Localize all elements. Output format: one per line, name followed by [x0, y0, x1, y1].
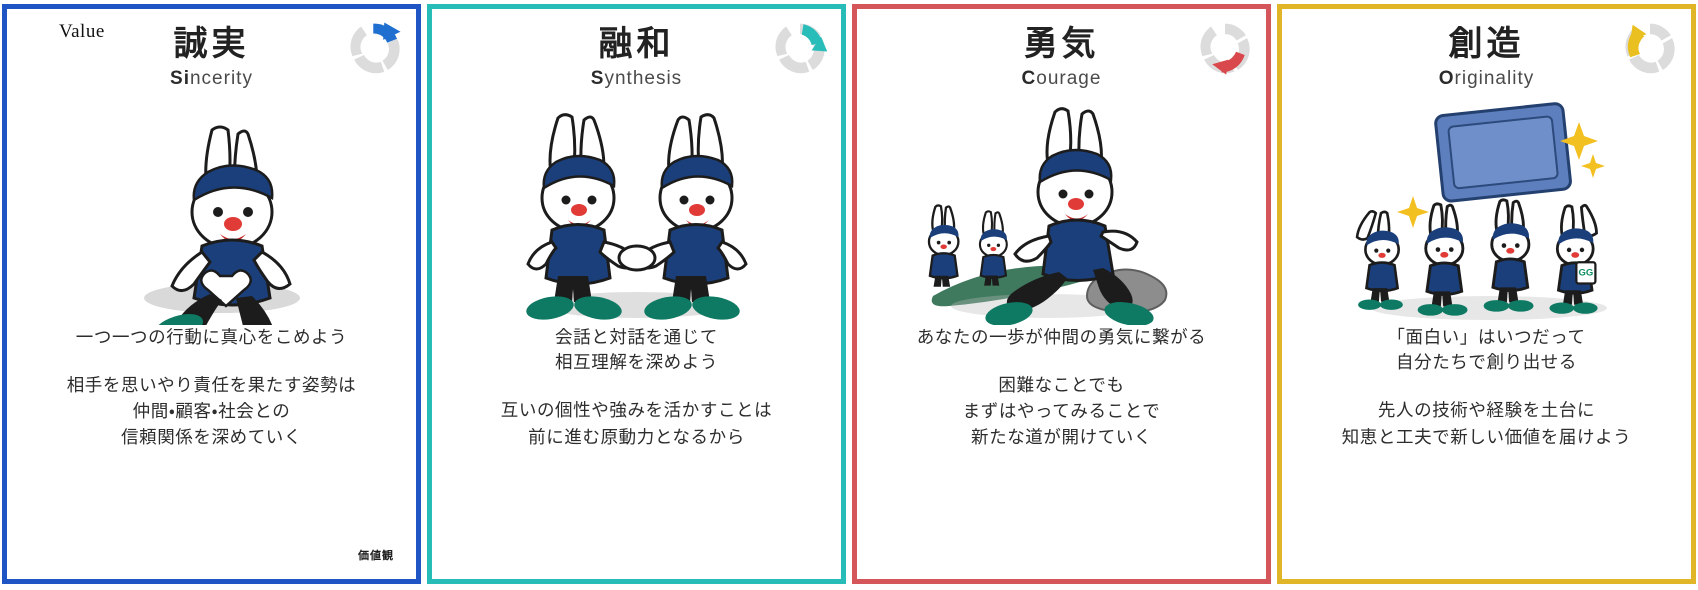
card-lead-text: 一つ一つの行動に真心をこめよう: [17, 325, 406, 350]
value-card-originality[interactable]: 創造 Originality: [1277, 4, 1696, 584]
card-footnote: 価値観: [358, 547, 394, 563]
card-sub-text: 困難なことでも まずはやってみることで 新たな道が開けていく: [867, 372, 1256, 451]
card-title-en-rest: ncerity: [190, 68, 253, 89]
card-sub-line: 相手を思いやり責任を果たす姿勢は: [17, 372, 406, 398]
card-sub-line: 困難なことでも: [867, 372, 1256, 398]
recycle-circle-icon: [346, 19, 404, 77]
card-title-en-cap: S: [591, 68, 605, 89]
svg-text:GG: GG: [1578, 267, 1593, 278]
mascot-leaping-over-rock-icon: [857, 90, 1266, 325]
recycle-circle-icon: [1196, 19, 1254, 77]
card-sub-line: 前に進む原動力となるから: [442, 424, 831, 450]
card-sub-text: 相手を思いやり責任を果たす姿勢は 仲間・顧客・社会との 信頼関係を深めていく: [17, 372, 406, 451]
value-kicker-label: Value: [59, 21, 105, 43]
card-sub-line: 互いの個性や強みを活かすことは: [442, 397, 831, 423]
card-lead-text: あなたの一歩が仲間の勇気に繋がる: [867, 325, 1256, 350]
card-sub-text: 互いの個性や強みを活かすことは 前に進む原動力となるから: [442, 397, 831, 450]
card-title-en-cap: C: [1022, 68, 1037, 89]
card-lead-text: 会話と対話を通じて 相互理解を深めよう: [442, 325, 831, 376]
card-lead-line: 「面白い」はいつだって: [1292, 325, 1681, 350]
recycle-circle-icon: [1621, 19, 1679, 77]
card-title-en-rest: ourage: [1036, 68, 1101, 89]
value-cards-board: Value 誠実 Sincerity: [0, 0, 1698, 590]
card-body: 会話と対話を通じて 相互理解を深めよう 互いの個性や強みを活かすことは 前に進む…: [432, 325, 841, 580]
value-card-synthesis[interactable]: 融和 Synthesis: [427, 4, 846, 584]
mascot-handshake-pair-icon: [432, 90, 841, 325]
card-lead-line: 会話と対話を通じて: [442, 325, 831, 350]
card-title-en-rest: riginality: [1455, 68, 1535, 89]
card-body: あなたの一歩が仲間の勇気に繋がる 困難なことでも まずはやってみることで 新たな…: [857, 325, 1266, 580]
card-sub-line: 仲間・顧客・社会との: [17, 398, 406, 424]
card-sub-text: 先人の技術や経験を土台に 知恵と工夫で新しい価値を届けよう: [1292, 397, 1681, 450]
value-card-sincerity[interactable]: Value 誠実 Sincerity: [2, 4, 421, 584]
card-sub-line: 信頼関係を深めていく: [17, 424, 406, 450]
recycle-circle-icon: [771, 19, 829, 77]
card-title-en-rest: ynthesis: [604, 68, 682, 89]
mascot-team-holding-panel-icon: GG: [1282, 90, 1691, 325]
card-sub-line: 新たな道が開けていく: [867, 424, 1256, 450]
value-card-courage[interactable]: 勇気 Courage: [852, 4, 1271, 584]
card-sub-line: 知恵と工夫で新しい価値を届けよう: [1292, 424, 1681, 450]
card-sub-line: 先人の技術や経験を土台に: [1292, 397, 1681, 423]
card-title-en-cap: Si: [170, 68, 190, 89]
card-lead-text: 「面白い」はいつだって 自分たちで創り出せる: [1292, 325, 1681, 376]
card-lead-line: 相互理解を深めよう: [442, 350, 831, 375]
card-sub-line: まずはやってみることで: [867, 398, 1256, 424]
card-body: 「面白い」はいつだって 自分たちで創り出せる 先人の技術や経験を土台に 知恵と工…: [1282, 325, 1691, 580]
card-title-en-cap: O: [1439, 68, 1455, 89]
mascot-running-single-icon: [7, 90, 416, 325]
card-lead-line: 自分たちで創り出せる: [1292, 350, 1681, 375]
card-body: 一つ一つの行動に真心をこめよう 相手を思いやり責任を果たす姿勢は 仲間・顧客・社…: [7, 325, 416, 580]
